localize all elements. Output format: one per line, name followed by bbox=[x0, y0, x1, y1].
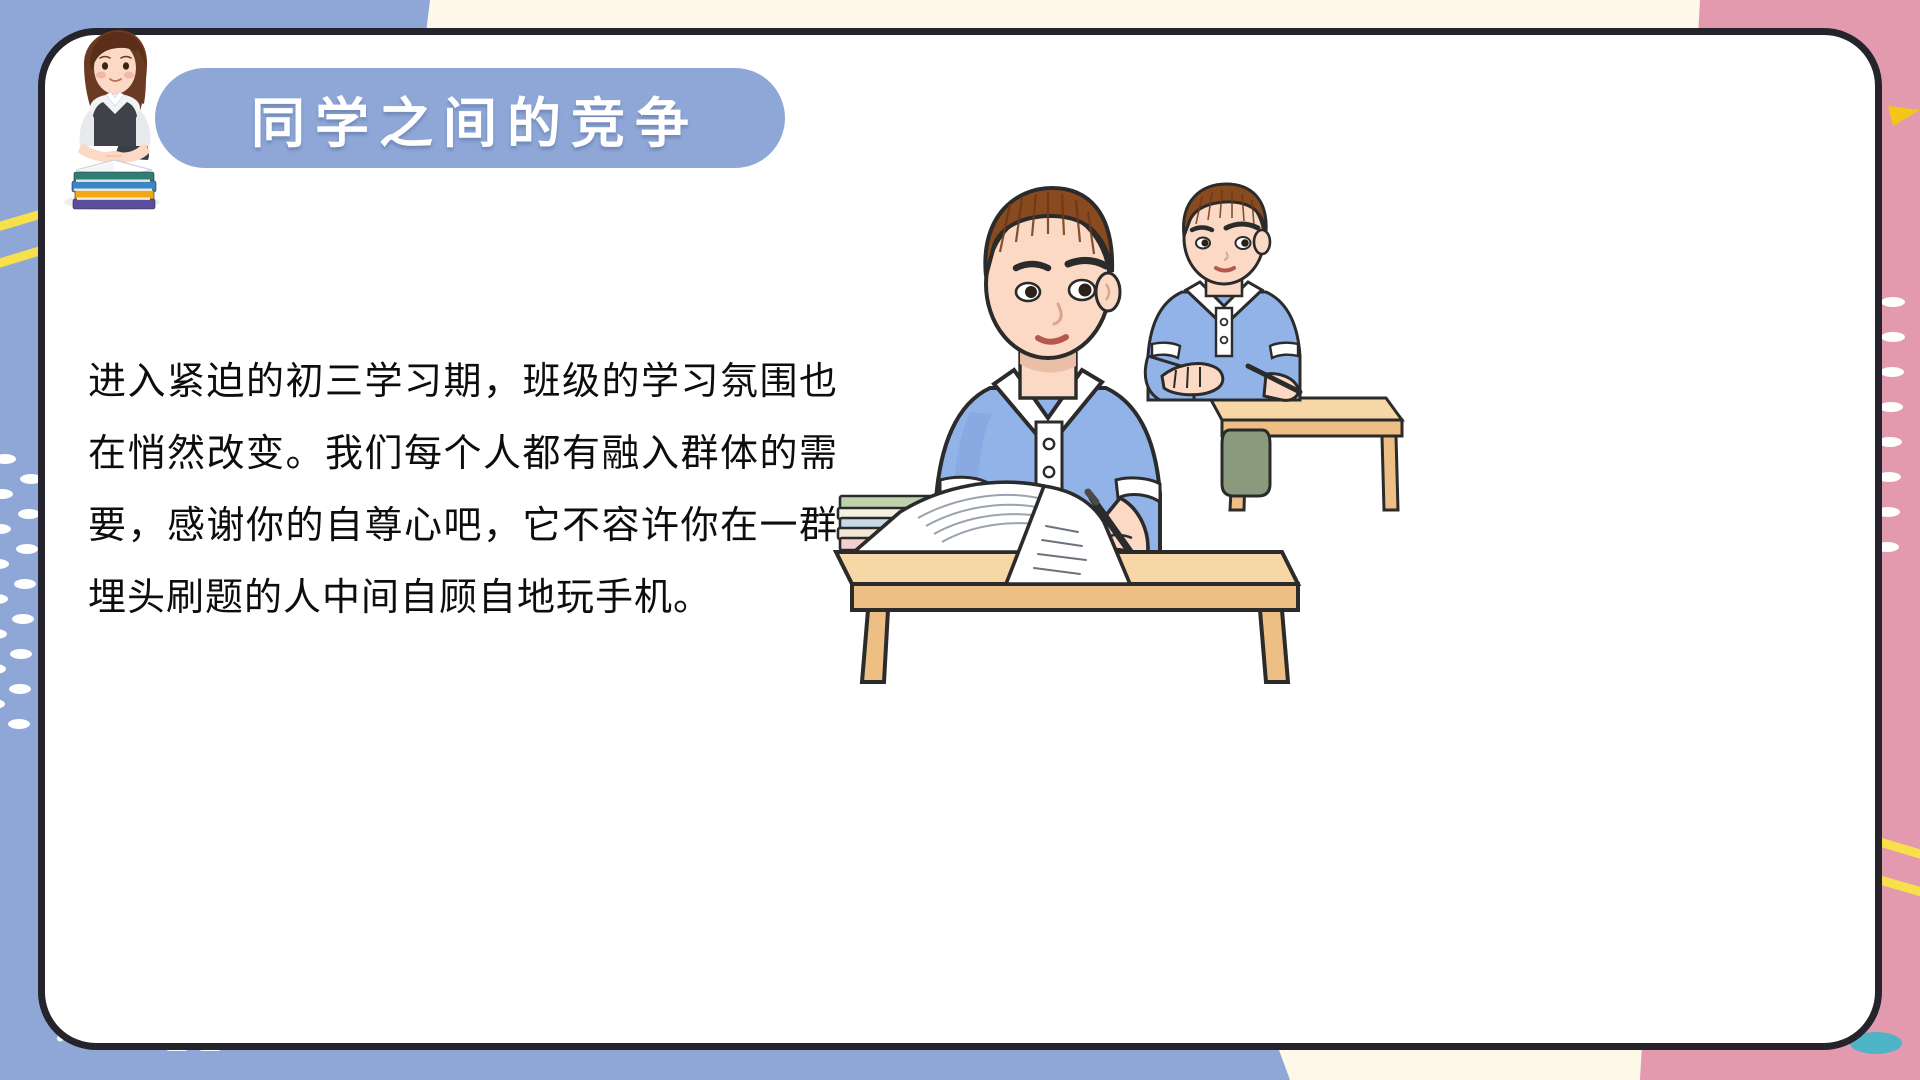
page-title: 同学之间的竞争 bbox=[241, 79, 699, 158]
girl-reading-on-books-icon bbox=[48, 22, 176, 212]
slide-title-pill: 同学之间的竞争 bbox=[155, 68, 785, 168]
two-students-at-desks-illustration bbox=[830, 180, 1450, 700]
body-paragraph: 进入紧迫的初三学习期，班级的学习氛围也在悄然改变。我们每个人都有融入群体的需要，… bbox=[88, 345, 838, 633]
back-chair bbox=[1222, 430, 1270, 496]
back-student bbox=[1145, 184, 1402, 510]
